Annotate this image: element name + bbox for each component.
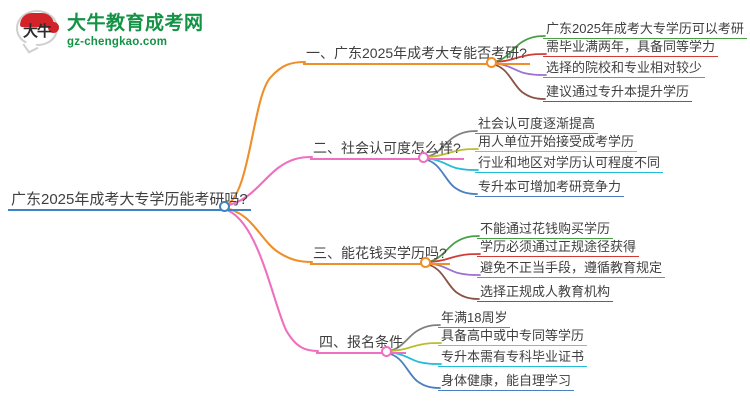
branch-4-dot[interactable] (381, 346, 392, 357)
branch-2-child-4[interactable]: 专升本可增加考研竞争力 (475, 178, 624, 197)
branch-2-label: 二、社会认可度怎么样? (313, 140, 461, 157)
branch-4-node[interactable]: 四、报名条件 (316, 334, 406, 354)
branch-1-dot[interactable] (486, 57, 497, 68)
branch-4-child-4[interactable]: 身体健康，能自理学习 (438, 372, 574, 391)
branch-1-child-3[interactable]: 选择的院校和专业相对较少 (543, 59, 705, 78)
branch-4-child-2-label: 具备高中或中专同等学历 (441, 327, 584, 344)
branch-2-child-1-label: 社会认可度逐渐提高 (478, 115, 595, 132)
branch-2-child-3-label: 行业和地区对学历认可程度不同 (478, 154, 660, 171)
root-node-dot[interactable] (219, 201, 230, 212)
branch-4-child-2[interactable]: 具备高中或中专同等学历 (438, 327, 587, 346)
branch-2-child-1[interactable]: 社会认可度逐渐提高 (475, 115, 598, 134)
branch-3-child-1[interactable]: 不能通过花钱购买学历 (477, 220, 613, 239)
root-node[interactable]: 广东2025年成考大专学历能考研吗? (8, 191, 251, 211)
branch-3-child-1-label: 不能通过花钱购买学历 (480, 220, 610, 237)
branch-2-dot[interactable] (418, 152, 429, 163)
branch-3-dot[interactable] (420, 257, 431, 268)
branch-3-child-2[interactable]: 学历必须通过正规途径获得 (477, 238, 639, 257)
branch-1-child-3-label: 选择的院校和专业相对较少 (546, 59, 702, 76)
branch-3-child-3-label: 避免不正当手段，遵循教育规定 (480, 259, 662, 276)
branch-2-node[interactable]: 二、社会认可度怎么样? (310, 140, 464, 160)
branch-2-child-2-label: 用人单位开始接受成考学历 (478, 133, 634, 150)
mindmap-canvas: 大牛 大牛教育成考网 gz-chengkao.com (0, 0, 750, 410)
root-node-label: 广东2025年成考大专学历能考研吗? (11, 191, 248, 208)
branch-2-child-4-label: 专升本可增加考研竞争力 (478, 178, 621, 195)
branch-3-child-3[interactable]: 避免不正当手段，遵循教育规定 (477, 259, 665, 278)
branch-4-child-4-label: 身体健康，能自理学习 (441, 372, 571, 389)
branch-3-child-4-label: 选择正规成人教育机构 (480, 283, 610, 300)
branch-1-child-2[interactable]: 需毕业满两年，具备同等学力 (543, 38, 718, 57)
branch-1-child-4-label: 建议通过专升本提升学历 (546, 83, 689, 100)
branch-4-child-3[interactable]: 专升本需有专科毕业证书 (438, 348, 587, 367)
branch-2-child-3[interactable]: 行业和地区对学历认可程度不同 (475, 154, 663, 173)
branch-4-child-1-label: 年满18周岁 (441, 309, 507, 326)
branch-4-child-3-label: 专升本需有专科毕业证书 (441, 348, 584, 365)
branch-2-child-2[interactable]: 用人单位开始接受成考学历 (475, 133, 637, 152)
branch-4-child-1[interactable]: 年满18周岁 (438, 309, 510, 328)
branch-3-child-4[interactable]: 选择正规成人教育机构 (477, 283, 613, 302)
branch-1-child-1[interactable]: 广东2025年成考大专学历可以考研 (543, 20, 747, 39)
branch-1-child-4[interactable]: 建议通过专升本提升学历 (543, 83, 692, 102)
branch-1-child-2-label: 需毕业满两年，具备同等学力 (546, 38, 715, 55)
branch-3-child-2-label: 学历必须通过正规途径获得 (480, 238, 636, 255)
branch-1-child-1-label: 广东2025年成考大专学历可以考研 (546, 20, 744, 37)
